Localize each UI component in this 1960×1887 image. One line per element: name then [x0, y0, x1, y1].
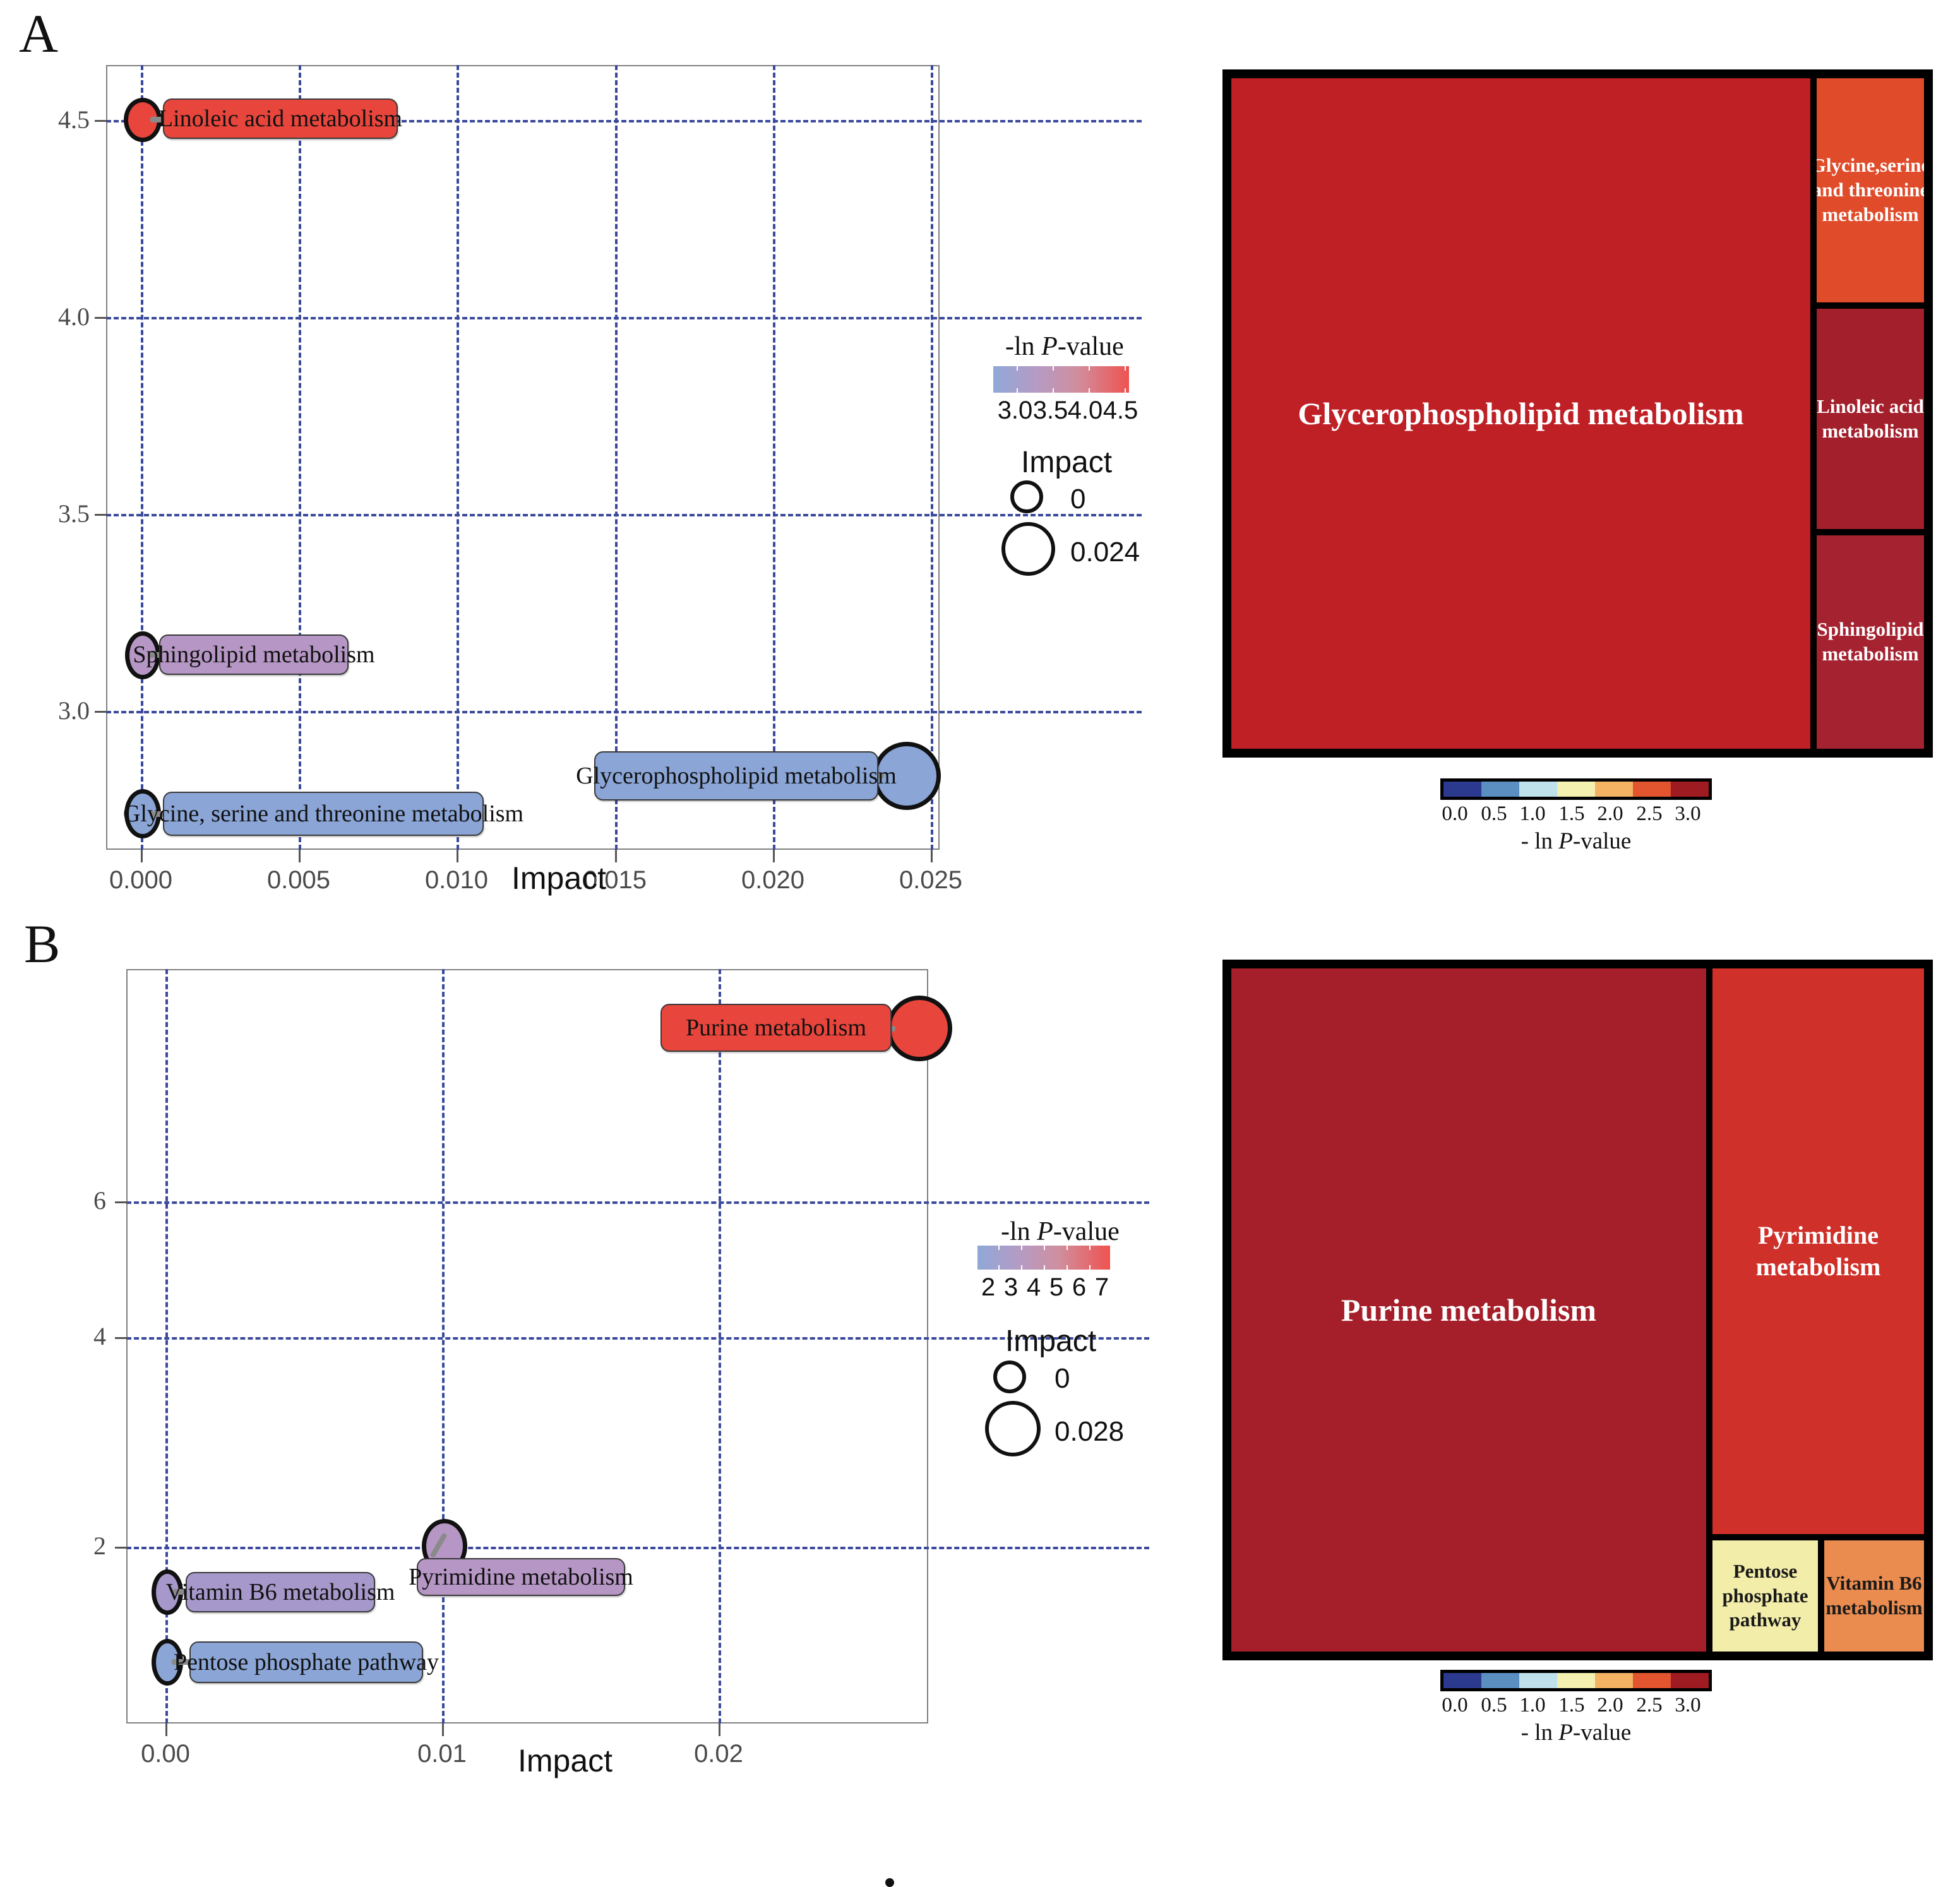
gradient-tick	[1089, 1265, 1091, 1270]
colorbar-title: -ln P-value	[1001, 1217, 1120, 1247]
colorbar-tick-label: 7	[1083, 1273, 1121, 1302]
gridline-vertical	[457, 65, 459, 850]
gradient-tick	[1053, 388, 1054, 393]
colorbar-segment	[1443, 782, 1481, 797]
gradient-tick	[1053, 366, 1054, 371]
size-legend-circle-large	[1001, 522, 1055, 576]
y-tick-mark	[115, 1547, 128, 1549]
colorbar-tick-label: 3.0	[1664, 802, 1712, 826]
y-tick-label: 3.0	[19, 696, 90, 725]
colorbar-caption: - ln P-value	[1440, 828, 1712, 855]
x-tick-mark	[931, 850, 933, 862]
gridline-vertical	[299, 65, 301, 850]
x-tick-label: 0.00	[96, 1740, 235, 1768]
y-tick-label: 4	[61, 1321, 106, 1351]
x-tick-label: 0.000	[65, 866, 217, 895]
discrete-colorbar	[1440, 778, 1712, 800]
size-legend-label: 0	[1070, 484, 1085, 515]
x-axis-title: Impact	[511, 860, 606, 896]
gradient-tick	[1089, 366, 1090, 371]
x-tick-mark	[299, 850, 301, 862]
y-tick-label: 4.5	[19, 105, 90, 134]
bubble-point-label[interactable]: Pyrimidine metabolism	[417, 1558, 625, 1596]
gradient-tick	[1017, 366, 1018, 371]
bubble-point-label[interactable]: Glycine, serine and threonine metabolism	[163, 792, 484, 836]
x-tick-label: 0.025	[855, 866, 1007, 895]
size-legend-circle-small	[1010, 480, 1043, 513]
gradient-tick	[998, 1246, 1000, 1250]
panel-b-legend: -ln P-value 2 3 4 5 6 7 Impact 0 0.028	[966, 1203, 1231, 1480]
gradient-tick	[1089, 388, 1090, 393]
colorbar-segment	[1443, 1673, 1481, 1688]
y-tick-label: 4.0	[19, 302, 90, 331]
colorbar-segment	[1671, 782, 1709, 797]
colorbar-segment	[1595, 1673, 1633, 1688]
bubble-point-label[interactable]: Linoleic acid metabolism	[163, 98, 398, 139]
treemap-cell-label: Linoleic acid metabolism	[1817, 395, 1924, 444]
panel-a-plot-frame	[106, 65, 940, 850]
bubble-point-label[interactable]: Vitamin B6 metabolism	[186, 1572, 375, 1612]
colorbar-title: -ln P-value	[1005, 331, 1124, 362]
colorbar-segment	[1481, 1673, 1519, 1688]
treemap-cell[interactable]: Pyrimidine metabolism	[1709, 965, 1927, 1537]
y-tick-mark	[115, 1201, 128, 1203]
size-legend-label: 0.024	[1070, 537, 1140, 568]
y-tick-label: 3.5	[19, 499, 90, 528]
x-tick-mark	[615, 850, 617, 862]
x-tick-mark	[773, 850, 775, 862]
treemap-cell-label: Vitamin B6 metabolism	[1824, 1571, 1924, 1621]
x-tick-label: 0.010	[381, 866, 532, 895]
bubble-point-label[interactable]: Sphingolipid metabolism	[159, 634, 349, 675]
x-tick-label: 0.020	[697, 866, 849, 895]
colorbar-segment	[1633, 1673, 1671, 1688]
panel-b-treemap-colorbar-group: 0.0 0.5 1.0 1.5 2.0 2.5 3.0 - ln P-value	[1440, 1670, 1712, 1752]
colorbar-segment	[1595, 782, 1633, 797]
size-legend-label: 0.028	[1055, 1416, 1124, 1448]
treemap-cell[interactable]: Linoleic acid metabolism	[1814, 306, 1927, 532]
gridline-horizontal	[126, 1547, 1149, 1549]
bubble-point-label[interactable]: Glycerophospholipid metabolism	[594, 751, 878, 801]
color-gradient-bar	[993, 366, 1129, 393]
colorbar-tick-label: 4.5	[1094, 396, 1147, 425]
panel-b-treemap: Purine metabolism Pyrimidine metabolism …	[1222, 960, 1933, 1660]
gradient-tick	[1125, 388, 1126, 393]
x-tick-label: 0.02	[649, 1740, 788, 1768]
gradient-tick	[1021, 1265, 1022, 1270]
gradient-tick	[1017, 388, 1018, 393]
bubble-point[interactable]	[885, 1878, 894, 1887]
bubble-point-label[interactable]: Purine metabolism	[660, 1004, 892, 1052]
y-tick-mark	[95, 514, 107, 516]
panel-a-legend: -ln P-value 3.0 3.5 4.0 4.5 Impact 0 0.0…	[960, 316, 1225, 593]
treemap-cell[interactable]: Glycerophospholipid metabolism	[1228, 75, 1814, 752]
x-tick-mark	[165, 1723, 167, 1736]
gradient-tick	[1067, 1265, 1068, 1270]
size-legend-label: 0	[1055, 1363, 1070, 1395]
size-legend-circle-large	[985, 1401, 1041, 1456]
treemap-cell-label: Glycine,serine and threonine metabolism	[1814, 153, 1927, 227]
y-tick-mark	[95, 120, 107, 122]
colorbar-segment	[1633, 782, 1671, 797]
treemap-cell-label: Pentose phosphate pathway	[1712, 1559, 1818, 1633]
colorbar-segment	[1671, 1673, 1709, 1688]
y-tick-mark	[95, 317, 107, 319]
colorbar-tick-label: 3.0	[1664, 1694, 1712, 1717]
gradient-tick	[1044, 1246, 1045, 1250]
discrete-colorbar	[1440, 1670, 1712, 1691]
gradient-tick	[1044, 1265, 1045, 1270]
gridline-vertical	[442, 969, 445, 1723]
treemap-cell[interactable]: Glycine,serine and threonine metabolism	[1814, 75, 1927, 306]
colorbar-title-text: -ln P-value	[1005, 332, 1124, 361]
colorbar-segment	[1481, 782, 1519, 797]
gridline-vertical	[141, 65, 143, 850]
panel-a-bubble-plot: 4.5 4.0 3.5 3.0 0.000 0.005 0.010 0.015 …	[0, 0, 960, 896]
size-legend-title: Impact	[1005, 1324, 1096, 1359]
y-tick-label: 2	[61, 1531, 106, 1561]
colorbar-segment	[1519, 782, 1557, 797]
colorbar-title-text: -ln P-value	[1001, 1217, 1120, 1246]
y-tick-label: 6	[61, 1186, 106, 1215]
treemap-cell[interactable]: Vitamin B6 metabolism	[1821, 1537, 1927, 1655]
panel-b-bubble-plot: 6 4 2 0.00 0.01 0.02 Impact Purine metab…	[0, 909, 960, 1787]
treemap-cell-label: Sphingolipid metabolism	[1817, 617, 1924, 667]
colorbar-segment	[1519, 1673, 1557, 1688]
treemap-cell-label: Purine metabolism	[1341, 1290, 1596, 1330]
colorbar-caption: - ln P-value	[1440, 1719, 1712, 1746]
bubble-point[interactable]	[887, 996, 952, 1061]
gridline-vertical	[931, 65, 933, 850]
x-tick-mark	[141, 850, 143, 862]
x-axis-title: Impact	[518, 1742, 612, 1779]
colorbar-segment	[1557, 1673, 1595, 1688]
x-tick-label: 0.005	[223, 866, 374, 895]
panel-a-treemap: Glycerophospholipid metabolism Glycine,s…	[1222, 69, 1933, 758]
gradient-tick	[1021, 1246, 1022, 1250]
size-legend-circle-small	[993, 1360, 1026, 1393]
treemap-cell-label: Pyrimidine metabolism	[1712, 1220, 1924, 1283]
y-tick-mark	[95, 711, 107, 713]
x-tick-mark	[719, 1723, 720, 1736]
size-legend-title: Impact	[1021, 445, 1112, 480]
bubble-point-label[interactable]: Pentose phosphate pathway	[189, 1641, 423, 1683]
gradient-tick	[1089, 1246, 1091, 1250]
gridline-vertical	[719, 969, 721, 1723]
treemap-cell[interactable]: Sphingolipid metabolism	[1814, 532, 1927, 752]
y-tick-mark	[115, 1337, 128, 1339]
treemap-cell[interactable]: Pentose phosphate pathway	[1709, 1537, 1821, 1655]
x-tick-mark	[457, 850, 458, 862]
color-gradient-bar	[977, 1246, 1110, 1270]
x-tick-label: 0.01	[373, 1740, 511, 1768]
gradient-tick	[1125, 366, 1126, 371]
treemap-cell-label: Glycerophospholipid metabolism	[1298, 394, 1743, 434]
treemap-cell[interactable]: Purine metabolism	[1228, 965, 1709, 1655]
gradient-tick	[1067, 1246, 1068, 1250]
panel-a-treemap-colorbar-group: 0.0 0.5 1.0 1.5 2.0 2.5 3.0 - ln P-value	[1440, 778, 1712, 860]
gridline-vertical	[773, 65, 775, 850]
x-tick-mark	[442, 1723, 444, 1736]
colorbar-segment	[1557, 782, 1595, 797]
gradient-tick	[998, 1265, 1000, 1270]
gridline-vertical	[615, 65, 618, 850]
gridline-horizontal	[106, 711, 1142, 713]
